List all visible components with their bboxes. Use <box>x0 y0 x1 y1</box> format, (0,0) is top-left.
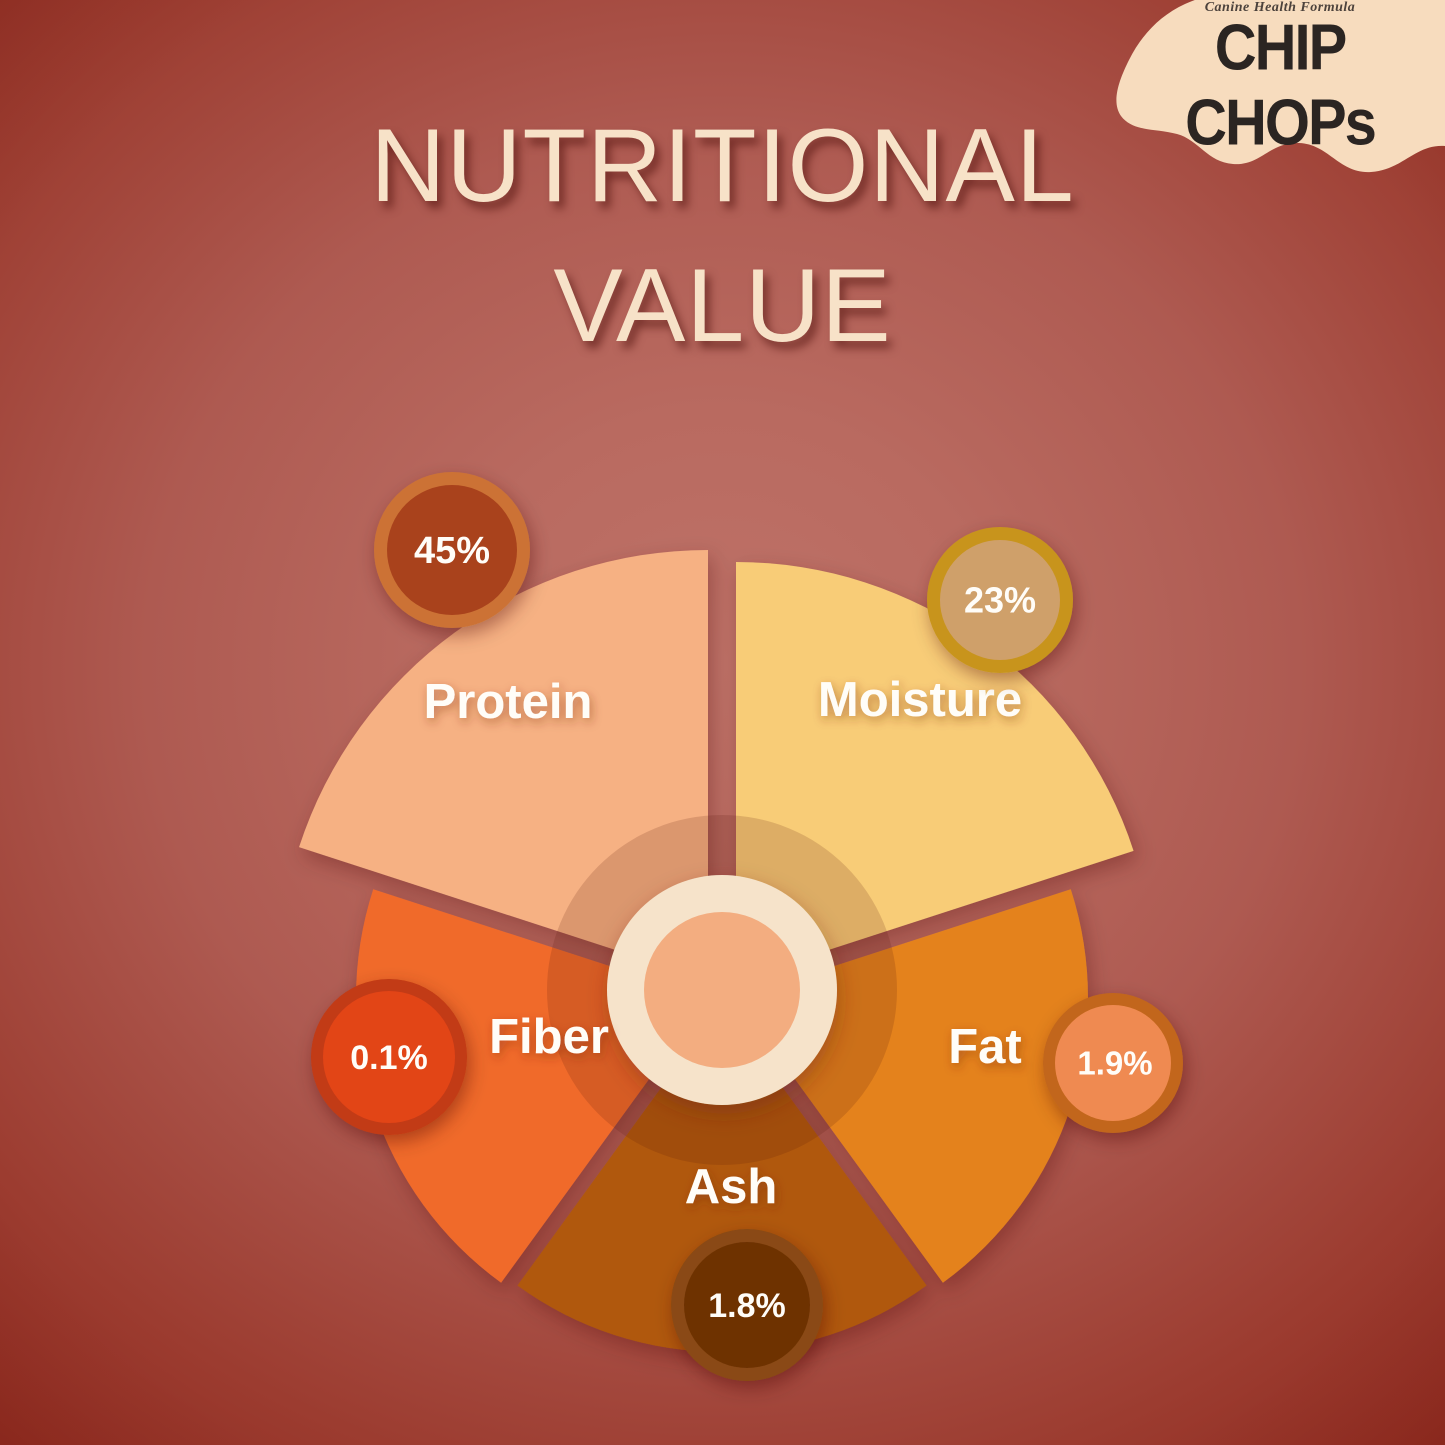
badge-value-protein: 45% <box>414 530 490 572</box>
brand-logo[interactable]: Canine Health Formula CHIP CHOPs <box>1115 0 1445 180</box>
segment-label-fat: Fat <box>948 1020 1022 1074</box>
badge-value-fat: 1.9% <box>1077 1045 1152 1082</box>
hub-inner-circle <box>644 912 800 1068</box>
infographic-canvas: Protein Moisture Fat Ash Fiber 45% 23% 1… <box>0 0 1445 1445</box>
badge-value-fiber: 0.1% <box>350 1039 428 1077</box>
chart-hub <box>607 875 837 1105</box>
logo-brandname: CHIP CHOPs <box>1115 10 1445 160</box>
badge-value-ash: 1.8% <box>708 1287 786 1325</box>
segment-label-protein: Protein <box>424 675 593 729</box>
segment-label-fiber: Fiber <box>489 1010 609 1064</box>
segment-label-ash: Ash <box>685 1160 778 1214</box>
title-line-2: VALUE <box>0 236 1445 376</box>
segment-label-moisture: Moisture <box>818 673 1022 727</box>
badge-value-moisture: 23% <box>964 580 1036 621</box>
